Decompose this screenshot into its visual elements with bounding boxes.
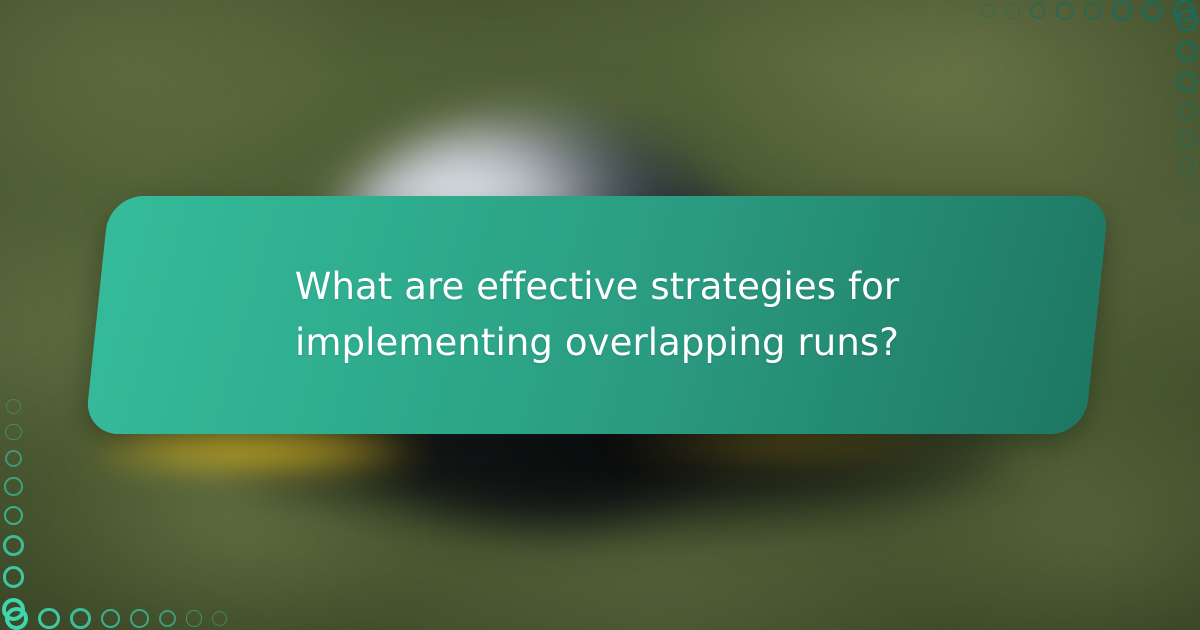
- decor-dot: [4, 477, 22, 495]
- decor-dot: [38, 608, 60, 630]
- question-line-2: implementing overlapping runs?: [295, 315, 899, 371]
- decor-dot: [4, 506, 24, 526]
- decor-dot: [1005, 3, 1020, 18]
- social-card-canvas: What are effective strategies for implem…: [0, 0, 1200, 630]
- decor-dot: [6, 399, 21, 414]
- decor-dot: [2, 598, 25, 621]
- decor-dot: [1177, 72, 1197, 92]
- decor-dot: [70, 608, 91, 629]
- decor-dot: [1056, 2, 1073, 19]
- decor-dot: [1084, 2, 1103, 21]
- question-card-wrapper: What are effective strategies for implem…: [97, 196, 1097, 434]
- decor-dots-bottom-left: [0, 607, 232, 630]
- decor-dot: [1179, 184, 1194, 199]
- decor-dot: [1178, 102, 1197, 121]
- question-text: What are effective strategies for implem…: [97, 196, 1097, 434]
- decor-dot: [3, 566, 25, 588]
- decor-dot: [186, 610, 202, 626]
- decor-dot: [981, 4, 995, 18]
- decor-dots-right-column: [1176, 4, 1198, 228]
- decor-dot: [1142, 1, 1163, 22]
- decor-dot: [101, 609, 121, 629]
- decor-dots-left-column: [2, 394, 25, 626]
- decor-dot: [1177, 41, 1198, 62]
- decor-dot: [1178, 130, 1195, 147]
- decor-dot: [5, 424, 21, 440]
- decor-dot: [1030, 3, 1046, 19]
- decor-dot: [1179, 158, 1195, 174]
- decor-dots-top-right: [976, 0, 1200, 22]
- decor-dot: [212, 611, 227, 626]
- decor-dot: [1176, 9, 1198, 31]
- decor-dot: [1112, 1, 1132, 21]
- decor-dot: [1180, 209, 1194, 223]
- question-line-1: What are effective strategies for: [295, 259, 899, 315]
- decor-dot: [3, 535, 24, 556]
- decor-dot: [5, 450, 22, 467]
- decor-dot: [130, 609, 148, 627]
- decor-dot: [159, 610, 176, 627]
